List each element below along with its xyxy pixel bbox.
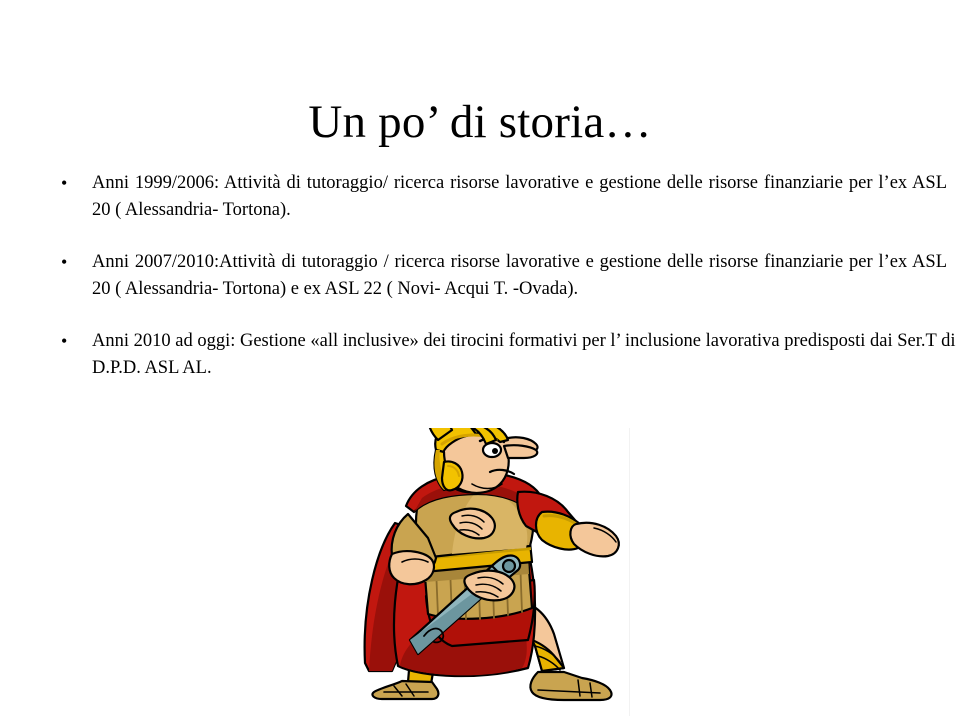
illustration-frame	[332, 428, 630, 716]
roman-centurion-icon	[332, 428, 630, 716]
list-item: • Anni 2010 ad oggi: Gestione «all inclu…	[58, 328, 948, 382]
bullet-list: • Anni 1999/2006: Attività di tutoraggio…	[58, 170, 948, 382]
list-item: • Anni 2007/2010:Attività di tutoraggio …	[58, 249, 948, 303]
bullet-text-1999-2006: Anni 1999/2006: Attività di tutoraggio/ …	[92, 170, 947, 224]
page-title: Un po’ di storia…	[0, 94, 960, 150]
bullet-text-2007-2010: Anni 2007/2010:Attività di tutoraggio / …	[92, 249, 947, 303]
bullet-point-icon: •	[61, 328, 67, 355]
bullet-text-2010-oggi: Anni 2010 ad oggi: Gestione «all inclusi…	[92, 328, 960, 382]
bullet-point-icon: •	[61, 170, 67, 197]
slide-canvas: Un po’ di storia… • Anni 1999/2006: Atti…	[0, 0, 960, 720]
bullet-point-icon: •	[61, 249, 67, 276]
list-item: • Anni 1999/2006: Attività di tutoraggio…	[58, 170, 948, 224]
